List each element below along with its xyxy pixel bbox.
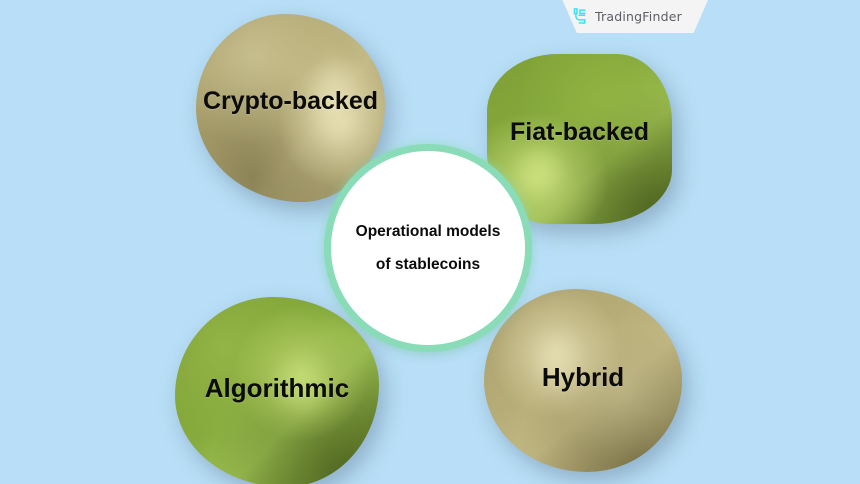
center-hub-line-2: of stablecoins [376, 257, 480, 273]
center-hub: Operational models of stablecoins [331, 151, 525, 345]
node-fiat-backed-label: Fiat-backed [510, 119, 649, 147]
node-crypto-backed: Crypto-backed [196, 14, 385, 202]
tradingfinder-logo-icon [570, 7, 589, 26]
node-algorithmic: Algorithmic [175, 297, 379, 484]
node-hybrid-label: Hybrid [542, 363, 624, 392]
infographic-canvas: Crypto-backed Fiat-backed Algorithmic Hy… [0, 0, 860, 484]
brand-badge: TradingFinder [548, 0, 708, 33]
node-hybrid: Hybrid [484, 289, 682, 472]
node-crypto-backed-label: Crypto-backed [203, 88, 378, 116]
center-hub-line-1: Operational models [356, 224, 501, 240]
node-fiat-backed: Fiat-backed [487, 54, 672, 224]
node-algorithmic-label: Algorithmic [205, 374, 349, 403]
brand-name: TradingFinder [595, 9, 682, 24]
